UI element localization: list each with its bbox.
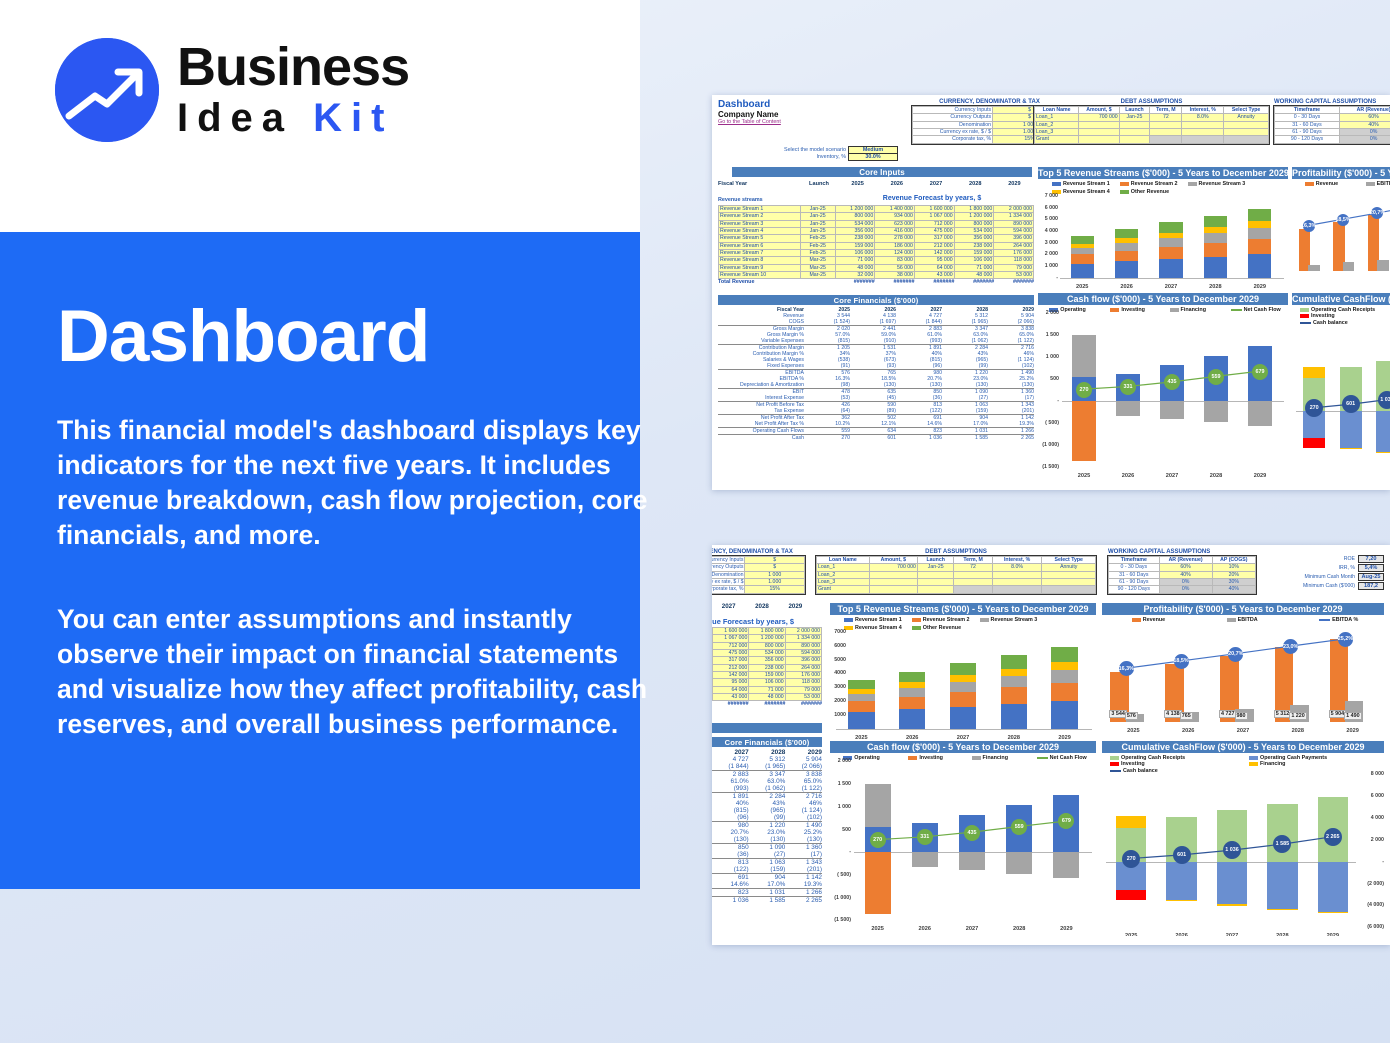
- legend-label: Investing: [1121, 761, 1145, 767]
- revenue-stream-value[interactable]: 534 000: [954, 228, 994, 235]
- debt-cell[interactable]: Loan_1: [1035, 114, 1079, 121]
- revenue-stream-value[interactable]: 118 000: [994, 257, 1034, 264]
- revenue-stream-value[interactable]: 1 600 000: [713, 628, 749, 635]
- debt-section-title: DEBT ASSUMPTIONS: [816, 549, 1096, 555]
- bar-segment: [848, 689, 874, 694]
- revenue-stream-value[interactable]: 1 200 000: [954, 213, 994, 220]
- data-label-net-cash-flow: 270: [870, 832, 886, 848]
- chart-cash-flow[interactable]: Cash flow ($'000) - 5 Years to December …: [1038, 293, 1288, 483]
- bar-segment: [848, 701, 874, 712]
- revenue-stream-value[interactable]: 356 000: [954, 235, 994, 242]
- revenue-stream-name[interactable]: Revenue Stream 3: [719, 220, 801, 227]
- total-revenue-row: Total Revenue###########################…: [718, 279, 1034, 285]
- debt-cell[interactable]: [869, 586, 917, 593]
- debt-cell[interactable]: Jan-25: [1119, 114, 1150, 121]
- legend-label: Other Revenue: [923, 625, 961, 631]
- debt-cell[interactable]: [992, 571, 1042, 578]
- debt-cell[interactable]: [1079, 129, 1119, 136]
- revenue-stream-value[interactable]: 1 800 000: [954, 206, 994, 213]
- revenue-forecast-table: Revenue Stream 1Jan-251 200 0001 400 000…: [718, 205, 1034, 279]
- table-row: 31 - 60 Days40%20%: [1275, 121, 1390, 128]
- debt-cell[interactable]: [1119, 129, 1150, 136]
- year-header: 2028: [956, 181, 995, 187]
- revenue-forecast-section: Revenue Stream 1Jan-251 200 0001 400 000…: [718, 205, 1034, 285]
- year-header: 2029: [995, 181, 1034, 187]
- wc-column-header: AR (Revenue): [1340, 107, 1390, 114]
- wc-column-header: AR (Revenue): [1159, 557, 1212, 564]
- debt-cell[interactable]: Loan_1: [817, 564, 870, 571]
- debt-cell[interactable]: Annuity: [1224, 114, 1269, 121]
- legend-label: Cash balance: [1313, 320, 1348, 326]
- bar-segment: [1001, 655, 1027, 669]
- chart-title-cumulative-cashflow: Cumulative CashFlow ($'000) - 5 Years to…: [1292, 293, 1390, 305]
- revenue-stream-name[interactable]: Revenue Stream 7: [719, 250, 801, 257]
- debt-cell[interactable]: Grant: [817, 586, 870, 593]
- bar-segment: [950, 682, 976, 692]
- financial-row-value: 270: [804, 435, 850, 441]
- table-row: Loan_3: [1035, 129, 1269, 136]
- wc-cell[interactable]: 0%: [1340, 136, 1390, 143]
- x-axis-category: 2029: [1039, 735, 1090, 741]
- debt-cell[interactable]: [1079, 136, 1119, 143]
- revenue-stream-value[interactable]: 317 000: [914, 235, 954, 242]
- revenue-stream-value[interactable]: 79 000: [994, 264, 1034, 271]
- financial-row-value: 4 727: [712, 756, 749, 763]
- revenue-stream-value[interactable]: 118 000: [785, 679, 821, 686]
- revenue-stream-value[interactable]: 56 000: [875, 264, 915, 271]
- debt-cell[interactable]: [917, 586, 953, 593]
- revenue-stream-launch[interactable]: Mar-25: [800, 257, 835, 264]
- financial-row: EBIT4786358501 0901 360: [718, 388, 1034, 395]
- debt-cell[interactable]: [1042, 579, 1096, 586]
- financial-row-value: 14.6%: [712, 881, 749, 888]
- revenue-stream-name[interactable]: Revenue Stream 5: [719, 235, 801, 242]
- financial-row-value: 980: [712, 822, 749, 829]
- revenue-forecast-title: Revenue Forecast by years, $: [832, 195, 1032, 202]
- revenue-stream-name[interactable]: Revenue Stream 9: [719, 264, 801, 271]
- wc-cell[interactable]: 31 - 60 Days: [1275, 121, 1340, 128]
- kpi-value: 187,2: [1358, 582, 1384, 590]
- data-label-ebitda-percent: 18,5%: [1337, 214, 1349, 226]
- wc-cell[interactable]: 61 - 90 Days: [1275, 129, 1340, 136]
- revenue-stream-value[interactable]: 71 000: [749, 686, 785, 693]
- revenue-stream-launch[interactable]: Jan-25: [800, 220, 835, 227]
- currency-row-value[interactable]: 15%: [745, 586, 805, 593]
- revenue-stream-value[interactable]: 1 600 000: [914, 206, 954, 213]
- financial-row: 6919041 142: [712, 873, 822, 881]
- wc-cell[interactable]: 60%: [1340, 114, 1390, 121]
- revenue-stream-value[interactable]: 48 000: [749, 694, 785, 701]
- financial-row-value: (1 122): [988, 338, 1034, 344]
- revenue-stream-name[interactable]: Revenue Stream 2: [719, 213, 801, 220]
- revenue-stream-name[interactable]: Revenue Stream 6: [719, 242, 801, 249]
- revenue-stream-value[interactable]: 1 200 000: [749, 635, 785, 642]
- financial-row-value: (1 697): [850, 319, 896, 325]
- debt-cell[interactable]: Loan_2: [817, 571, 870, 578]
- currency-wrap: CURRENCY, DENOMINATOR & TAXCurrency Inpu…: [712, 549, 805, 594]
- debt-cell[interactable]: [954, 586, 992, 593]
- debt-cell[interactable]: 72: [1150, 114, 1182, 121]
- revenue-stream-value[interactable]: 1 400 000: [875, 206, 915, 213]
- revenue-stream-value[interactable]: 186 000: [875, 242, 915, 249]
- dashboard-screenshot-top[interactable]: DashboardCompany NameGo to the Table of …: [712, 95, 1390, 490]
- revenue-stream-value[interactable]: 396 000: [994, 235, 1034, 242]
- bar-segment: [899, 682, 925, 688]
- debt-cell[interactable]: 700 000: [869, 564, 917, 571]
- revenue-stream-value[interactable]: 71 000: [835, 257, 875, 264]
- wc-cell[interactable]: 0%: [1340, 129, 1390, 136]
- financial-row-value: (910): [850, 338, 896, 344]
- debt-cell[interactable]: [1150, 129, 1182, 136]
- chart-top5-revenue-streams[interactable]: Top 5 Revenue Streams ($'000) - 5 Years …: [830, 603, 1096, 738]
- revenue-stream-value[interactable]: 317 000: [713, 657, 749, 664]
- kpi-row: Minimum Cash MonthAug-25: [1260, 573, 1384, 581]
- wc-cell[interactable]: 0 - 30 Days: [1109, 564, 1160, 571]
- revenue-stream-value[interactable]: 623 000: [875, 220, 915, 227]
- legend-label: Revenue Stream 4: [855, 625, 902, 631]
- legend-label: Net Cash Flow: [1244, 307, 1281, 313]
- debt-cell[interactable]: Loan_2: [1035, 121, 1079, 128]
- revenue-stream-value[interactable]: 1 067 000: [713, 635, 749, 642]
- chart-cash-flow[interactable]: Cash flow ($'000) - 5 Years to December …: [830, 741, 1096, 936]
- table-row: Revenue Stream 2Jan-25800 000934 0001 06…: [719, 213, 1034, 220]
- revenue-stream-launch[interactable]: Jan-25: [800, 213, 835, 220]
- bar-segment: [1051, 701, 1077, 729]
- revenue-stream-value[interactable]: 38 000: [875, 272, 915, 279]
- debt-cell[interactable]: Annuity: [1042, 564, 1096, 571]
- revenue-stream-launch[interactable]: Jan-25: [800, 206, 835, 213]
- financial-row-value: (102): [988, 363, 1034, 369]
- total-revenue-value: #######: [785, 701, 822, 707]
- financial-row-value: (1 965): [749, 763, 786, 770]
- revenue-stream-value[interactable]: 43 000: [713, 694, 749, 701]
- bar-segment: [899, 709, 925, 728]
- total-revenue-value: #######: [954, 279, 994, 285]
- revenue-stream-value[interactable]: 71 000: [954, 264, 994, 271]
- table-row: 90 - 120 Days0%40%: [1109, 586, 1256, 593]
- revenue-stream-launch[interactable]: Mar-25: [800, 272, 835, 279]
- revenue-stream-value[interactable]: 95 000: [713, 679, 749, 686]
- revenue-stream-value[interactable]: 106 000: [835, 250, 875, 257]
- financial-row-value: 10.2%: [804, 421, 850, 427]
- bar-segment: [1071, 244, 1094, 248]
- bar-segment: [1204, 233, 1227, 242]
- financial-row: 8501 0901 360: [712, 843, 822, 851]
- legend-label: Revenue Stream 3: [991, 617, 1038, 623]
- wc-cell[interactable]: 60%: [1159, 564, 1212, 571]
- debt-cell[interactable]: [1182, 136, 1224, 143]
- revenue-stream-name[interactable]: Revenue Stream 1: [719, 206, 801, 213]
- revenue-stream-value[interactable]: 48 000: [954, 272, 994, 279]
- inventory-value[interactable]: 30.0%: [849, 154, 897, 160]
- wc-cell[interactable]: 90 - 120 Days: [1109, 586, 1160, 593]
- revenue-stream-value[interactable]: 159 000: [749, 672, 785, 679]
- revenue-stream-value[interactable]: 2 000 000: [994, 206, 1034, 213]
- revenue-stream-launch[interactable]: Feb-25: [800, 250, 835, 257]
- wc-cell[interactable]: 40%: [1212, 586, 1255, 593]
- financial-row-label: Tax Expense: [718, 408, 804, 414]
- debt-cell[interactable]: Loan_3: [1035, 129, 1079, 136]
- revenue-stream-value[interactable]: 48 000: [835, 264, 875, 271]
- revenue-stream-value[interactable]: 1 800 000: [749, 628, 785, 635]
- chart-title-cash-flow: Cash flow ($'000) - 5 Years to December …: [830, 741, 1096, 753]
- data-label-cash-balance: 601: [1342, 395, 1360, 413]
- financial-row: 1 0361 5852 265: [712, 896, 822, 904]
- revenue-stream-value[interactable]: 264 000: [785, 664, 821, 671]
- y-axis-tick: 2000: [830, 698, 846, 704]
- debt-cell[interactable]: 8.0%: [1182, 114, 1224, 121]
- trend-arrow-icon: [55, 38, 159, 142]
- currency-row-value[interactable]: $: [745, 557, 805, 564]
- core-financials-section: Core Financials ($'000)2027202820294 727…: [712, 737, 822, 904]
- legend-label: Net Cash Flow: [1050, 755, 1087, 761]
- core-financials-band-cropped: [712, 723, 822, 733]
- revenue-stream-value[interactable]: 890 000: [785, 642, 821, 649]
- revenue-stream-value[interactable]: 264 000: [994, 242, 1034, 249]
- revenue-stream-value[interactable]: 1 334 000: [994, 213, 1034, 220]
- revenue-stream-launch[interactable]: Feb-25: [800, 235, 835, 242]
- revenue-stream-value[interactable]: 594 000: [785, 650, 821, 657]
- wc-cell[interactable]: 10%: [1212, 564, 1255, 571]
- revenue-stream-value[interactable]: 106 000: [749, 679, 785, 686]
- debt-cell[interactable]: [1042, 571, 1096, 578]
- debt-assumptions-section: DEBT ASSUMPTIONSLoan NameAmount, $Launch…: [816, 549, 1096, 594]
- data-label-ebitda-percent: 16,3%: [1303, 220, 1315, 232]
- currency-row-value[interactable]: 1.000: [745, 579, 805, 586]
- table-of-contents-link[interactable]: Go to the Table of Content: [718, 119, 898, 125]
- bar-segment: [950, 692, 976, 707]
- chart-cumulative-cashflow[interactable]: Cumulative CashFlow ($'000) - 5 Years to…: [1292, 293, 1390, 483]
- revenue-stream-value[interactable]: 212 000: [713, 664, 749, 671]
- debt-column-header: Term, M: [954, 557, 992, 564]
- financial-row-value: 61.0%: [712, 778, 749, 785]
- revenue-stream-name[interactable]: Revenue Stream 4: [719, 228, 801, 235]
- revenue-stream-value[interactable]: 800 000: [835, 213, 875, 220]
- table-header-row: TimeframeAR (Revenue)AP (COGS): [1109, 557, 1256, 564]
- revenue-stream-value[interactable]: 212 000: [914, 242, 954, 249]
- revenue-stream-name[interactable]: Revenue Stream 8: [719, 257, 801, 264]
- hero-paragraph-2: You can enter assumptions and instantly …: [57, 602, 657, 742]
- debt-cell[interactable]: [1224, 129, 1269, 136]
- revenue-stream-value[interactable]: 53 000: [785, 694, 821, 701]
- core-financials-section: Core Financials ($'000)Fiscal Year202520…: [718, 295, 1034, 441]
- debt-cell[interactable]: [1119, 136, 1150, 143]
- wc-cell[interactable]: 61 - 90 Days: [1109, 579, 1160, 586]
- legend-label: EBITDA %: [1332, 617, 1358, 623]
- revenue-stream-value[interactable]: 124 000: [875, 250, 915, 257]
- debt-wrap: DEBT ASSUMPTIONSLoan NameAmount, $Launch…: [1034, 99, 1269, 144]
- revenue-stream-value[interactable]: 238 000: [749, 664, 785, 671]
- table-row: Revenue Stream 9Mar-2548 00056 00064 000…: [719, 264, 1034, 271]
- revenue-stream-value[interactable]: 534 000: [749, 650, 785, 657]
- dashboard-screenshot-bottom[interactable]: CURRENCY, DENOMINATOR & TAXCurrency Inpu…: [712, 545, 1390, 945]
- wc-cell[interactable]: 30%: [1212, 579, 1255, 586]
- revenue-stream-value[interactable]: 594 000: [994, 228, 1034, 235]
- debt-cell[interactable]: [1224, 136, 1269, 143]
- wc-cell[interactable]: 0%: [1159, 579, 1212, 586]
- debt-cell[interactable]: [869, 579, 917, 586]
- currency-denominator-tax-section: CURRENCY, DENOMINATOR & TAXCurrency Inpu…: [712, 549, 805, 594]
- wc-cell[interactable]: 20%: [1212, 571, 1255, 578]
- currency-table: Currency Inputs$Currency Outputs$Denomin…: [712, 556, 805, 594]
- revenue-stream-launch[interactable]: Jan-25: [800, 228, 835, 235]
- currency-row-value[interactable]: 1 000: [745, 571, 805, 578]
- revenue-stream-value[interactable]: 475 000: [914, 228, 954, 235]
- bar-segment: [1248, 228, 1271, 238]
- revenue-stream-value[interactable]: 159 000: [835, 242, 875, 249]
- revenue-stream-launch[interactable]: Mar-25: [800, 264, 835, 271]
- kpi-row: Minimum Cash ($'000)187,2: [1260, 582, 1384, 590]
- debt-cell[interactable]: [917, 571, 953, 578]
- revenue-stream-value[interactable]: 32 000: [835, 272, 875, 279]
- table-row: 61 - 90 Days0%30%: [1109, 579, 1256, 586]
- debt-cell[interactable]: [954, 571, 992, 578]
- financial-row: (815)(965)(1 124): [712, 807, 822, 814]
- revenue-stream-value[interactable]: 106 000: [954, 257, 994, 264]
- table-row: Denomination1 000: [712, 571, 805, 578]
- debt-cell[interactable]: Jan-25: [917, 564, 953, 571]
- wc-cell[interactable]: 31 - 60 Days: [1109, 571, 1160, 578]
- legend-label: Financing: [1260, 761, 1285, 767]
- revenue-stream-value[interactable]: 53 000: [994, 272, 1034, 279]
- wc-cell[interactable]: 90 - 120 Days: [1275, 136, 1340, 143]
- debt-cell[interactable]: [917, 579, 953, 586]
- chart-legend-cash-flow: OperatingInvestingFinancingNet Cash Flow: [1038, 305, 1288, 313]
- revenue-stream-value[interactable]: 934 000: [875, 213, 915, 220]
- data-label-net-cash-flow: 331: [1120, 379, 1136, 395]
- debt-cell[interactable]: [1150, 121, 1182, 128]
- legend-label: Operating Cash Payments: [1260, 755, 1327, 761]
- kpi-label: ROE: [1344, 556, 1355, 562]
- chart-plot-cumulative-cashflow: (6 000)(4 000)(2 000)-2 0004 0006 0008 0…: [1102, 774, 1384, 936]
- debt-cell[interactable]: 72: [954, 564, 992, 571]
- revenue-stream-value[interactable]: 79 000: [785, 686, 821, 693]
- revenue-stream-value[interactable]: 43 000: [914, 272, 954, 279]
- revenue-stream-value[interactable]: 890 000: [994, 220, 1034, 227]
- revenue-stream-value[interactable]: 238 000: [835, 235, 875, 242]
- debt-cell[interactable]: [1042, 586, 1096, 593]
- debt-cell[interactable]: 8.0%: [992, 564, 1042, 571]
- chart-top5-revenue-streams[interactable]: Top 5 Revenue Streams ($'000) - 5 Years …: [1038, 167, 1288, 287]
- revenue-stream-value[interactable]: 534 000: [835, 220, 875, 227]
- currency-row-value[interactable]: $: [745, 564, 805, 571]
- revenue-stream-value[interactable]: 238 000: [954, 242, 994, 249]
- wc-cell[interactable]: 40%: [1159, 571, 1212, 578]
- financial-row-value: 1 220: [749, 822, 786, 829]
- debt-cell[interactable]: Grant: [1035, 136, 1079, 143]
- revenue-stream-value[interactable]: 142 000: [713, 672, 749, 679]
- debt-cell[interactable]: [992, 586, 1042, 593]
- wc-cell[interactable]: 0%: [1159, 586, 1212, 593]
- revenue-stream-value[interactable]: 142 000: [914, 250, 954, 257]
- debt-cell[interactable]: [1224, 121, 1269, 128]
- scenario-value[interactable]: Medium: [849, 147, 897, 153]
- debt-cell[interactable]: [1182, 121, 1224, 128]
- revenue-forecast-table: 1 600 0001 800 0002 000 0001 067 0001 20…: [712, 627, 822, 701]
- revenue-stream-value[interactable]: 176 000: [785, 672, 821, 679]
- debt-cell[interactable]: [1150, 136, 1182, 143]
- revenue-stream-value[interactable]: 176 000: [994, 250, 1034, 257]
- revenue-stream-value[interactable]: 64 000: [914, 264, 954, 271]
- financial-row-value: (965): [749, 807, 786, 814]
- year-header: 2029: [785, 749, 822, 756]
- financial-row-value: (1 965): [942, 319, 988, 325]
- revenue-stream-value[interactable]: 83 000: [875, 257, 915, 264]
- financial-row-value: 20.7%: [712, 829, 749, 836]
- wc-cell[interactable]: 0 - 30 Days: [1275, 114, 1340, 121]
- financial-row-value: (815): [804, 338, 850, 344]
- chart-profitability[interactable]: Profitability ($'000) - 5 Years to Decem…: [1292, 167, 1390, 287]
- chart-cumulative-cashflow[interactable]: Cumulative CashFlow ($'000) - 5 Years to…: [1102, 741, 1384, 936]
- revenue-stream-value[interactable]: 95 000: [914, 257, 954, 264]
- revenue-stream-value[interactable]: 475 000: [713, 650, 749, 657]
- table-row: Revenue Stream 7Feb-25106 000124 000142 …: [719, 250, 1034, 257]
- revenue-stream-value[interactable]: 712 000: [914, 220, 954, 227]
- x-axis-category: 2026: [1104, 284, 1148, 290]
- debt-section-title: DEBT ASSUMPTIONS: [1034, 99, 1269, 105]
- x-axis-category: 2025: [1106, 728, 1161, 734]
- revenue-stream-name[interactable]: Revenue Stream 10: [719, 272, 801, 279]
- debt-cell[interactable]: [1119, 121, 1150, 128]
- net-cash-flow-line: [1038, 313, 1288, 479]
- debt-cell[interactable]: 700 000: [1079, 114, 1119, 121]
- financial-row-value: 559: [804, 428, 850, 434]
- legend-label: Revenue Stream 3: [1199, 181, 1246, 187]
- revenue-stream-value[interactable]: 2 000 000: [785, 628, 821, 635]
- debt-cell[interactable]: [869, 571, 917, 578]
- table-row: Loan_3: [817, 579, 1096, 586]
- legend-label: Revenue Stream 1: [855, 617, 902, 623]
- bar-segment: [1159, 259, 1182, 278]
- revenue-stream-value[interactable]: 712 000: [713, 642, 749, 649]
- financial-row-value: 19.3%: [988, 421, 1034, 427]
- revenue-stream-value[interactable]: 800 000: [749, 642, 785, 649]
- y-axis-tick: 1000: [830, 712, 846, 718]
- chart-legend-profitability: RevenueEBITDAEBITDA %: [1102, 615, 1384, 623]
- financial-row-label: Variable Expenses: [718, 338, 804, 344]
- financial-row: Fixed Expenses(91)(93)(96)(99)(102): [718, 363, 1034, 369]
- revenue-stream-launch[interactable]: Feb-25: [800, 242, 835, 249]
- financial-row-value: 2 265: [785, 897, 822, 904]
- revenue-stream-value[interactable]: 1 200 000: [835, 206, 875, 213]
- debt-cell[interactable]: Loan_3: [817, 579, 870, 586]
- revenue-stream-value[interactable]: 800 000: [954, 220, 994, 227]
- financial-row-value: 17.0%: [942, 421, 988, 427]
- table-row: 475 000534 000594 000: [713, 650, 822, 657]
- bar-segment: [1115, 261, 1138, 277]
- bar-segment: [1115, 238, 1138, 243]
- revenue-stream-value[interactable]: 1 067 000: [914, 213, 954, 220]
- revenue-stream-value[interactable]: 416 000: [875, 228, 915, 235]
- revenue-stream-value[interactable]: 159 000: [954, 250, 994, 257]
- wc-cell[interactable]: 40%: [1340, 121, 1390, 128]
- debt-cell[interactable]: [1079, 121, 1119, 128]
- core-financials-band: Core Financials ($'000): [718, 295, 1034, 305]
- revenue-stream-value[interactable]: 396 000: [785, 657, 821, 664]
- year-header: 2029: [779, 603, 812, 610]
- revenue-stream-value[interactable]: 64 000: [713, 686, 749, 693]
- revenue-stream-value[interactable]: 356 000: [835, 228, 875, 235]
- revenue-stream-value[interactable]: 278 000: [875, 235, 915, 242]
- chart-legend-top5: Revenue Stream 1Revenue Stream 2Revenue …: [830, 615, 1096, 632]
- financial-row-value: 1 036: [896, 435, 942, 441]
- debt-cell[interactable]: [1182, 129, 1224, 136]
- revenue-stream-value[interactable]: 356 000: [749, 657, 785, 664]
- debt-cell[interactable]: [992, 579, 1042, 586]
- debt-cell[interactable]: [954, 579, 992, 586]
- revenue-stream-value[interactable]: 1 334 000: [785, 635, 821, 642]
- chart-profitability[interactable]: Profitability ($'000) - 5 Years to Decem…: [1102, 603, 1384, 738]
